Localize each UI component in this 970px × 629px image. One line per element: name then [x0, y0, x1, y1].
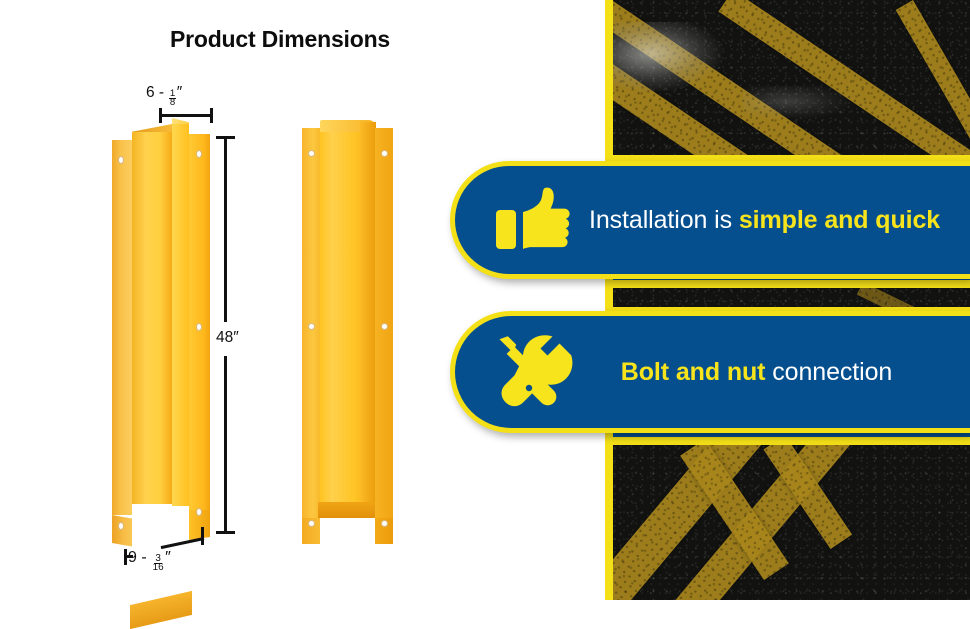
- bolt-hole: [381, 323, 388, 330]
- bolt-hole: [381, 150, 388, 157]
- dim-width-bottom-fraction: 316: [152, 555, 165, 572]
- guard-left-right-flange: [189, 134, 210, 510]
- banner-text-installation: Installation is simple and quick: [589, 206, 970, 235]
- feature-banner-bolt-and-nut[interactable]: Bolt and nut connection: [450, 311, 970, 433]
- yellow-rule: [605, 437, 970, 445]
- bolt-hole: [196, 150, 202, 158]
- bolt-hole: [308, 150, 315, 157]
- dim-width-top-whole: 6 -: [146, 84, 168, 101]
- dimension-line-width-bottom-right: [161, 537, 205, 549]
- background-photo-asphalt-top: [613, 0, 970, 155]
- dimension-line-height-lower: [224, 356, 227, 534]
- bolt-hole: [381, 520, 388, 527]
- guard-right-bottom-notch: [318, 502, 378, 518]
- product-image-guard-rail-front: [302, 118, 394, 533]
- product-image-guard-rail-angled: [112, 118, 212, 533]
- dim-width-top-unit: ″: [177, 84, 183, 101]
- dim-width-bottom-unit: ″: [165, 549, 171, 566]
- product-dimensions-panel: Product Dimensions 6 - 18″: [0, 0, 596, 600]
- yellow-rule: [605, 280, 970, 288]
- guard-left-flange-foot: [112, 515, 132, 547]
- yellow-vertical-rule: [605, 0, 613, 600]
- bolt-hole: [308, 520, 315, 527]
- bolt-hole: [118, 156, 124, 164]
- dimension-line-height-upper: [224, 136, 227, 322]
- dim-width-bottom-whole: 9 -: [128, 549, 151, 566]
- dimension-label-width-top: 6 - 18″: [146, 84, 182, 107]
- page-title: Product Dimensions: [0, 26, 560, 53]
- feature-banner-installation[interactable]: Installation is simple and quick: [450, 161, 970, 279]
- guard-left-inner-face: [172, 124, 189, 506]
- feature-panel: [596, 0, 970, 600]
- background-photo-asphalt-strip: [613, 288, 970, 307]
- dimension-label-height: 48″: [213, 327, 242, 349]
- bolt-hole: [196, 508, 202, 516]
- bolt-hole: [196, 323, 202, 331]
- banner-text-bolt-and-nut: Bolt and nut connection: [589, 358, 970, 387]
- dimension-tick-width-bottom-right: [201, 527, 204, 545]
- asphalt-texture: [613, 288, 970, 307]
- gravel-patch: [613, 22, 723, 92]
- guard-right-web-lip: [360, 122, 376, 507]
- background-photo-asphalt-bottom: [613, 445, 970, 600]
- banner-text-plain: connection: [765, 358, 892, 386]
- dimension-tick-height-bottom: [216, 531, 235, 534]
- tools-wrench-screwdriver-icon: [477, 335, 589, 409]
- guard-left-flange: [112, 140, 132, 515]
- banner-text-highlight: simple and quick: [739, 206, 940, 234]
- dimension-line-width-top: [160, 114, 212, 117]
- gravel-patch: [743, 86, 853, 120]
- thumbs-up-icon: [477, 187, 589, 253]
- banner-text-highlight: Bolt and nut: [621, 358, 766, 386]
- banner-text-plain: Installation is: [589, 206, 739, 234]
- bolt-hole: [308, 323, 315, 330]
- guard-left-bottom-notch: [130, 591, 192, 629]
- dim-width-top-fraction: 18: [169, 90, 176, 107]
- dimension-label-width-bottom: 9 - 316″: [128, 549, 171, 572]
- guard-left-web: [132, 132, 172, 504]
- bolt-hole: [118, 522, 124, 530]
